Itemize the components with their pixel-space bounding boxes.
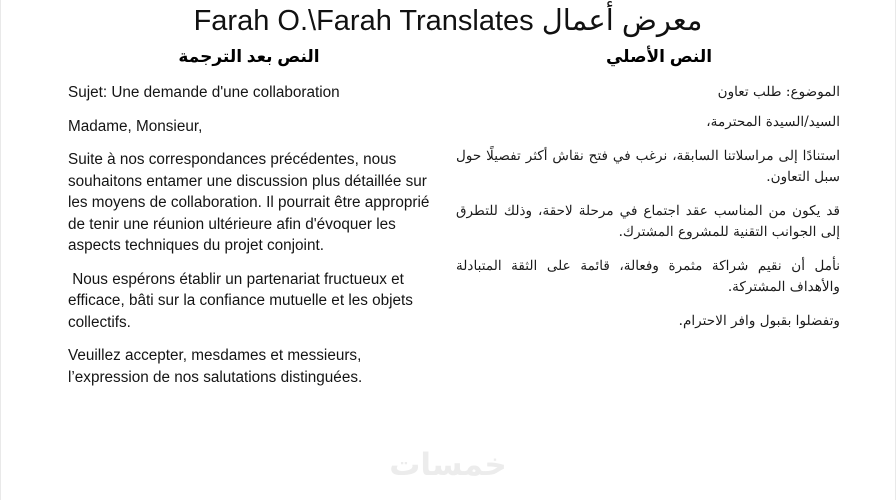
document-page: معرض أعمال Farah O.\Farah Translates الن… [0, 0, 896, 500]
heading-original-text: النص الأصلي [456, 46, 862, 68]
original-paragraph-body-3: نأمل أن نقيم شراكة مثمرة وفعالة، قائمة ع… [456, 256, 840, 298]
column-translated-text: النص بعد الترجمة Sujet: Une demande d'un… [0, 46, 448, 388]
watermark: خمسات [0, 448, 896, 482]
translated-text-body: Sujet: Une demande d'une collaboration M… [68, 82, 430, 388]
original-text-body: الموضوع: طلب تعاون السيد/السيدة المحترمة… [456, 82, 840, 332]
page-title: معرض أعمال Farah O.\Farah Translates [0, 0, 896, 40]
original-paragraph-body-1: استنادًا إلى مراسلاتنا السابقة، نرغب في … [456, 146, 840, 188]
original-paragraph-subject: الموضوع: طلب تعاون [456, 82, 840, 103]
translated-paragraph-body-2: Nous espérons établir un partenariat fru… [68, 269, 430, 334]
translated-paragraph-salutation: Madame, Monsieur, [68, 116, 430, 138]
original-paragraph-closing: وتفضلوا بقبول وافر الاحترام. [456, 311, 840, 332]
original-paragraph-body-2: قد يكون من المناسب عقد اجتماع في مرحلة ل… [456, 201, 840, 243]
original-paragraph-salutation: السيد/السيدة المحترمة، [456, 112, 840, 133]
column-original-text: النص الأصلي الموضوع: طلب تعاون السيد/الس… [448, 46, 896, 332]
translated-paragraph-subject: Sujet: Une demande d'une collaboration [68, 82, 430, 104]
translated-paragraph-closing: Veuillez accepter, mesdames et messieurs… [68, 345, 430, 388]
two-column-body: النص بعد الترجمة Sujet: Une demande d'un… [0, 46, 896, 388]
heading-translated-text: النص بعد الترجمة [68, 46, 430, 68]
translated-paragraph-body-1: Suite à nos correspondances précédentes,… [68, 149, 430, 257]
